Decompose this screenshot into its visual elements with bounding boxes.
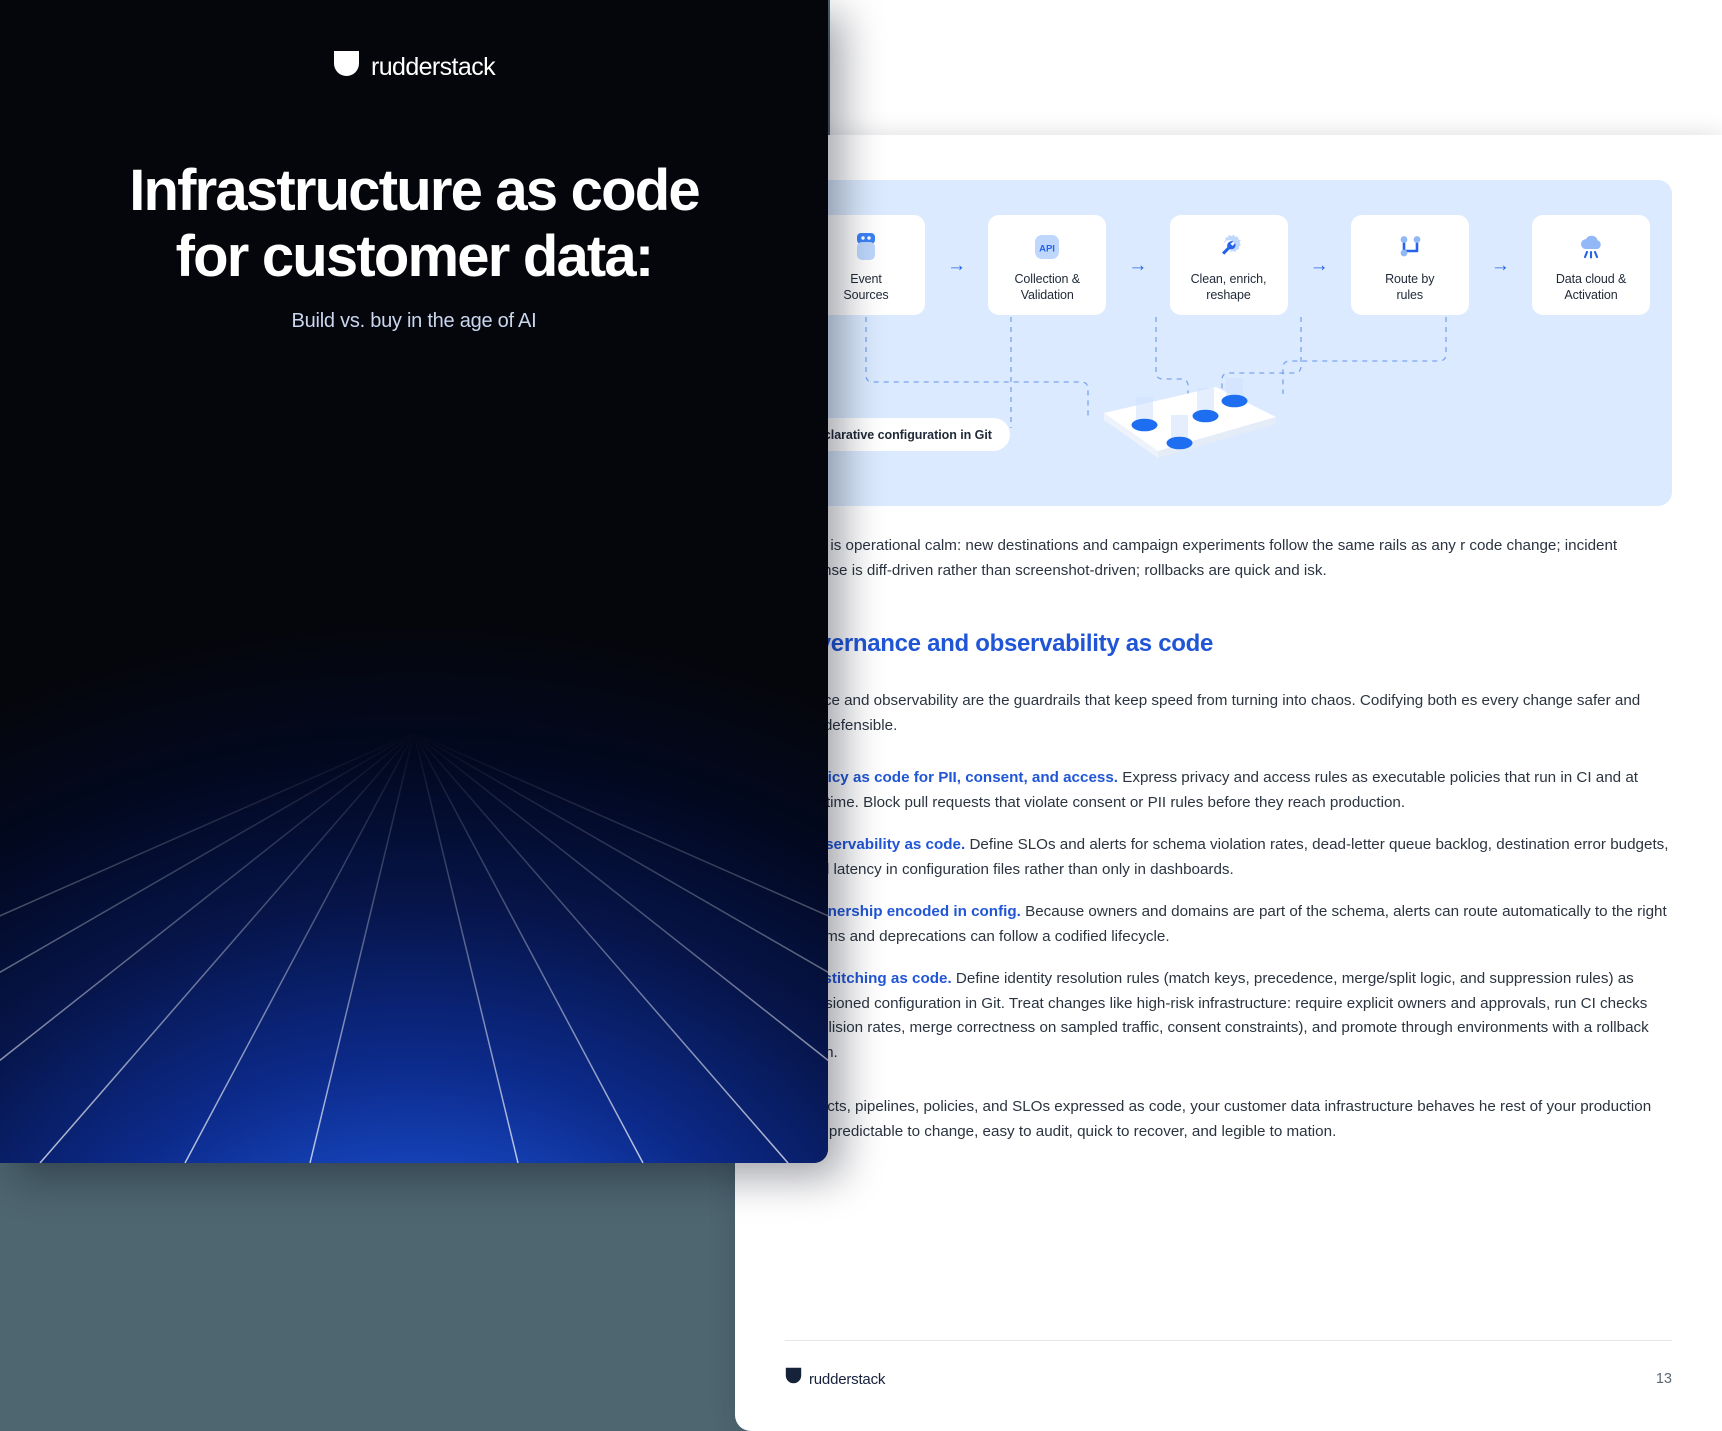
flow-node-data-cloud-activation[interactable]: Data cloud & Activation	[1532, 215, 1650, 315]
flow-node-clean-enrich-reshape[interactable]: Clean, enrich, reshape	[1170, 215, 1288, 315]
cover-logo: rudderstack	[0, 50, 828, 85]
flow-node-label: Collection & Validation	[1015, 272, 1081, 303]
flow-arrow-2: →	[1125, 215, 1151, 315]
section-heading: Governance and observability as code	[785, 629, 1672, 659]
branch-icon	[1393, 230, 1427, 264]
cover-title: Infrastructure as code for customer data…	[0, 158, 828, 290]
database-icon	[849, 230, 883, 264]
footer-logo-text: rudderstack	[809, 1371, 885, 1388]
bullet-term: Observability as code.	[804, 836, 965, 853]
article-body: payoff is operational calm: new destinat…	[785, 534, 1672, 1144]
api-icon: API	[1030, 230, 1064, 264]
bullet-term: Ownership encoded in config.	[804, 903, 1021, 920]
flow-arrow-4: →	[1487, 215, 1513, 315]
cover-logo-text: rudderstack	[371, 53, 495, 82]
cloud-activation-icon	[1574, 230, 1608, 264]
cover-perspective-grid	[0, 733, 828, 1163]
cover-subtitle: Build vs. buy in the age of AI	[0, 310, 828, 333]
svg-text:API: API	[1039, 244, 1055, 255]
flow-arrow-1: →	[944, 215, 970, 315]
closing-paragraph: contracts, pipelines, policies, and SLOs…	[785, 1095, 1672, 1144]
intro-paragraph: payoff is operational calm: new destinat…	[785, 534, 1672, 583]
pipeline-flow-row: Event Sources → API Collection & Validat…	[807, 215, 1650, 315]
page-backdrop-lower	[0, 1163, 745, 1431]
flow-node-label: Data cloud & Activation	[1556, 272, 1626, 303]
flow-node-label: Route by rules	[1385, 272, 1434, 303]
flow-node-label: Event Sources	[843, 272, 888, 303]
cover-page: rudderstack Infrastructure as code for c…	[0, 0, 828, 1163]
document-page: Event Sources → API Collection & Validat…	[735, 135, 1722, 1431]
isometric-plane-graphic	[1040, 375, 1280, 480]
pipeline-diagram-panel: Event Sources → API Collection & Validat…	[785, 180, 1672, 506]
flow-node-label: Clean, enrich, reshape	[1191, 272, 1267, 303]
bullet-item: ID stitching as code. Define identity re…	[804, 967, 1672, 1065]
lead-paragraph: ernance and observability are the guardr…	[785, 689, 1672, 738]
flow-node-collection-validation[interactable]: API Collection & Validation	[988, 215, 1106, 315]
page-number: 13	[1656, 1371, 1672, 1387]
document-content: Event Sources → API Collection & Validat…	[735, 135, 1722, 1431]
bullet-term: Policy as code for PII, consent, and acc…	[804, 769, 1118, 786]
bullet-item: Observability as code. Define SLOs and a…	[804, 833, 1672, 882]
footer-logo: rudderstack	[785, 1367, 885, 1391]
screenshot-stage: Event Sources → API Collection & Validat…	[0, 0, 1722, 1431]
flow-node-route-by-rules[interactable]: Route by rules	[1351, 215, 1469, 315]
page-footer: rudderstack 13	[785, 1340, 1672, 1391]
bullet-list: Policy as code for PII, consent, and acc…	[785, 766, 1672, 1065]
rudderstack-shield-icon	[785, 1367, 802, 1391]
rudderstack-shield-icon	[333, 50, 360, 85]
flow-arrow-3: →	[1306, 215, 1332, 315]
bullet-item: Policy as code for PII, consent, and acc…	[804, 766, 1672, 815]
bullet-item: Ownership encoded in config. Because own…	[804, 900, 1672, 949]
gear-wrench-icon	[1212, 230, 1246, 264]
